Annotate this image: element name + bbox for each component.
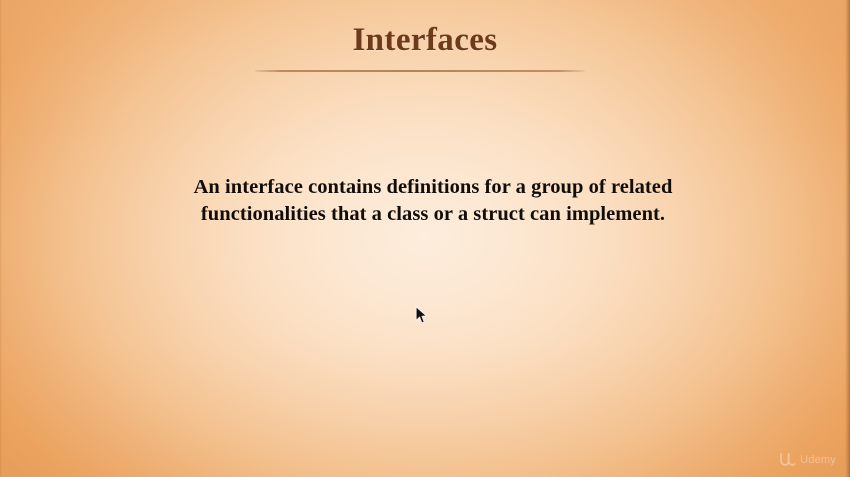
mouse-pointer-icon <box>415 306 428 325</box>
presentation-slide: Interfaces An interface contains definit… <box>0 0 850 477</box>
udemy-u-logo-icon <box>779 452 796 467</box>
page-title: Interfaces <box>0 20 850 60</box>
body-line-2: functionalities that a class or a struct… <box>125 201 741 228</box>
slide-content: Interfaces An interface contains definit… <box>0 0 850 477</box>
body-line-1: An interface contains definitions for a … <box>125 174 741 201</box>
slide-body-text: An interface contains definitions for a … <box>125 174 741 228</box>
slide-title-block: Interfaces <box>0 20 850 60</box>
udemy-watermark-label: Udemy <box>800 454 836 466</box>
title-divider <box>255 70 585 72</box>
udemy-watermark: Udemy <box>779 452 836 467</box>
